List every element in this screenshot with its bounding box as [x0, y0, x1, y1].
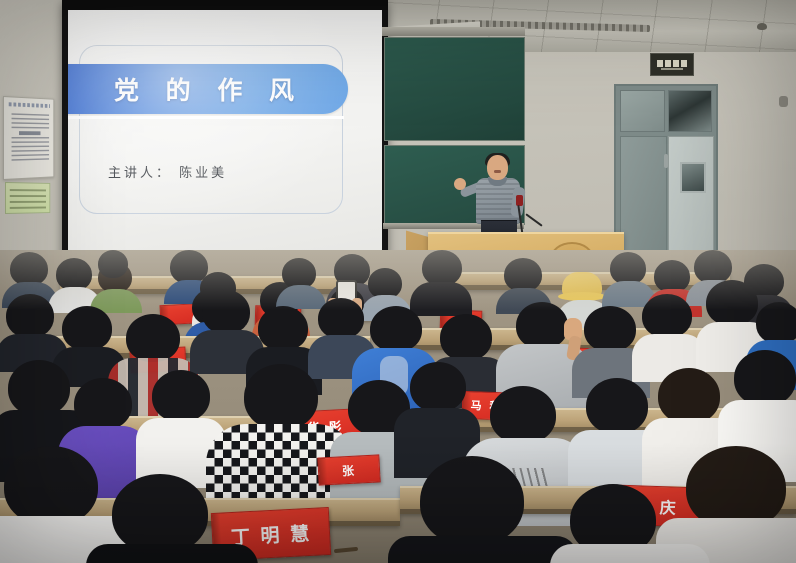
- exit-sign-characters: [657, 60, 687, 67]
- door-transom-windows: [620, 90, 712, 132]
- door-leaf-left[interactable]: [620, 136, 667, 264]
- screen-surface: 党 的 作 风 主讲人： 陈业美: [68, 10, 382, 255]
- exit-sign: [650, 53, 694, 76]
- door-handle[interactable]: [664, 154, 668, 168]
- screen-roller-bar: [62, 0, 388, 10]
- pen-icon: [334, 547, 358, 553]
- name-card-zhang: 张: [317, 454, 380, 485]
- slide-title-banner: 党 的 作 风: [68, 64, 348, 114]
- audience-member-foreground: [560, 478, 700, 563]
- classroom-door[interactable]: [614, 84, 718, 268]
- audience-seating-area: 华 彤 马 秋 会: [0, 250, 796, 563]
- wall-fixture: [779, 96, 788, 107]
- transom-pane-left: [620, 90, 665, 132]
- exit-sign-subtext: [661, 68, 683, 70]
- door-leaf-right[interactable]: [668, 136, 714, 264]
- poster-text-block-1: [12, 113, 50, 129]
- poster-text-block-2: [12, 137, 50, 163]
- audience-member: [92, 250, 132, 290]
- chalkboard-top-rail: [382, 27, 525, 36]
- projection-screen: 党 的 作 风 主讲人： 陈业美: [62, 0, 388, 263]
- speaker-head: [487, 155, 508, 180]
- audience-member: [416, 250, 468, 314]
- door-vision-panel: [680, 162, 706, 193]
- audience-member-foreground: [396, 456, 564, 563]
- chalkboard-panel-upper: [384, 37, 525, 141]
- slide-title: 党 的 作 风: [105, 71, 303, 107]
- slide-banner-underline: [68, 116, 344, 119]
- speaker-left-hand: [454, 178, 466, 190]
- slide-presenter-line: 主讲人： 陈业美: [108, 162, 318, 181]
- transom-pane-right: [668, 90, 713, 132]
- poster-heading-lines: [9, 102, 50, 108]
- wall-poster: [3, 96, 54, 180]
- audience-member-foreground: [96, 474, 246, 563]
- green-notice-placard: [5, 182, 50, 214]
- poster-subheading: [19, 131, 40, 135]
- lecture-hall-photo: 党 的 作 风 主讲人： 陈业美: [0, 0, 796, 563]
- smoke-detector-icon: [757, 23, 767, 30]
- speaker-mouth: [494, 170, 501, 173]
